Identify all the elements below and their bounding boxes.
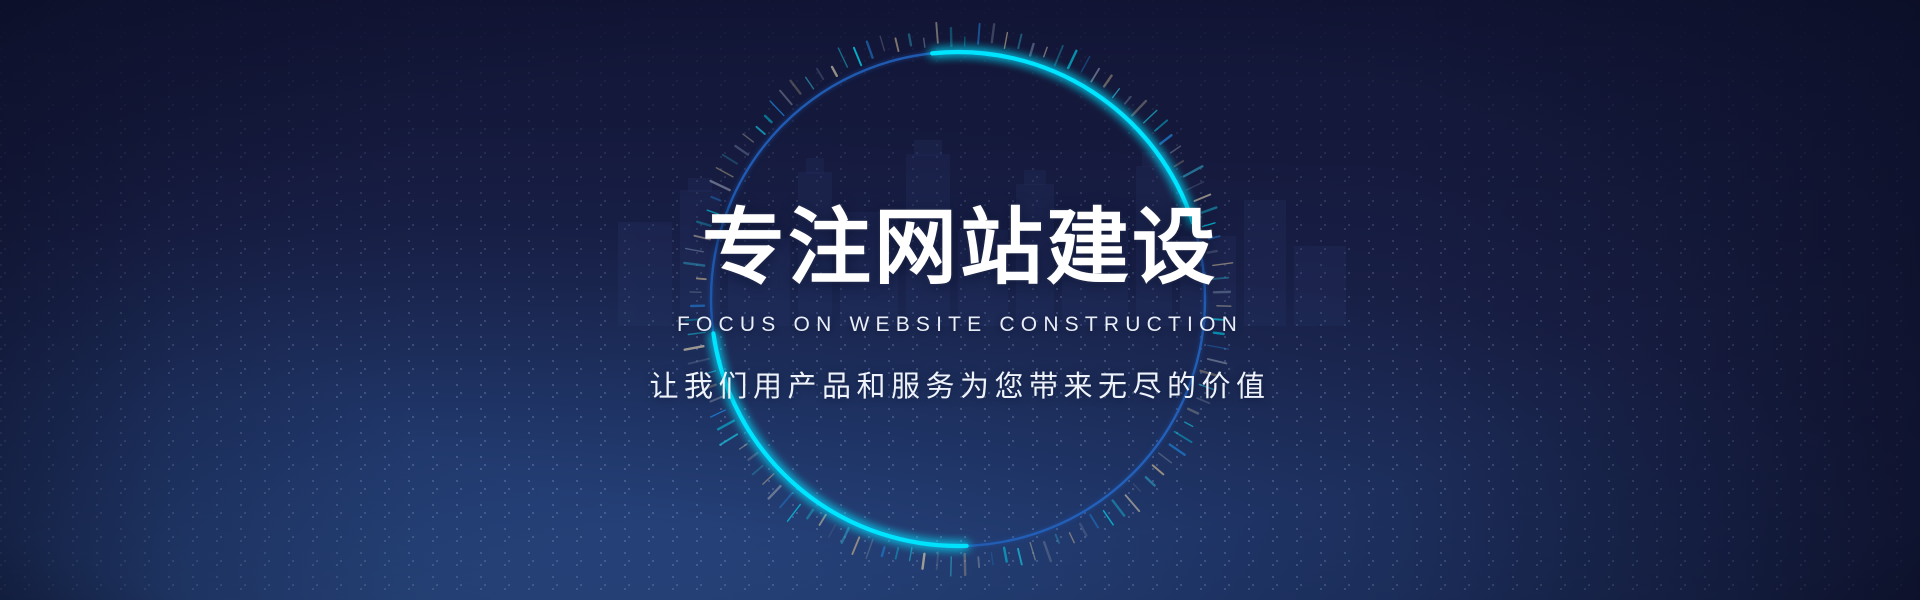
page-title: 专注网站建设: [702, 206, 1218, 289]
page-tagline: 让我们用产品和服务为您带来无尽的价值: [649, 363, 1270, 405]
page-subtitle: FOCUS ON WEBSITE CONSTRUCTION: [677, 313, 1243, 337]
hero-banner: 专注网站建设 FOCUS ON WEBSITE CONSTRUCTION 让我们…: [0, 0, 1920, 600]
hero-text-block: 专注网站建设 FOCUS ON WEBSITE CONSTRUCTION 让我们…: [0, 0, 1920, 600]
